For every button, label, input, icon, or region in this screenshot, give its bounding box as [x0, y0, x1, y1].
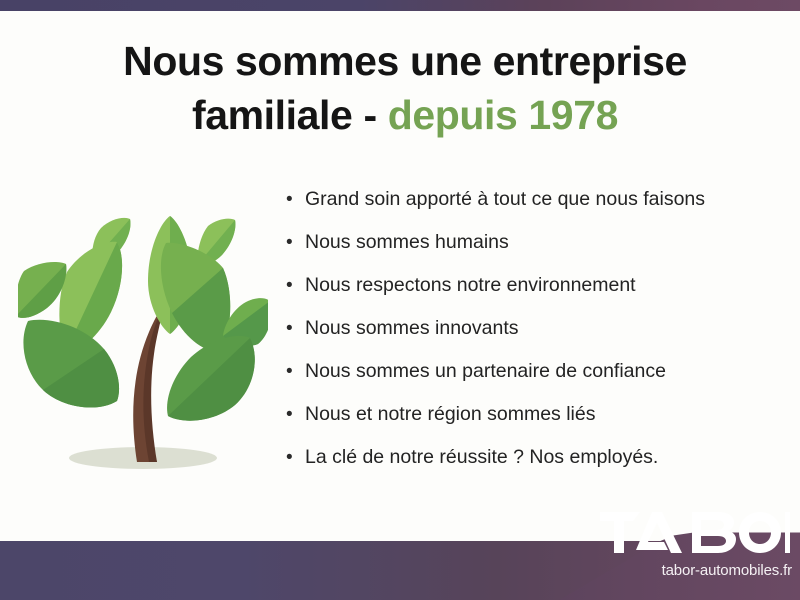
list-item-label: La clé de notre réussite ? Nos employés. — [305, 448, 658, 468]
logo-letter-a — [636, 512, 682, 553]
list-item-label: Nous respectons notre environnement — [305, 276, 636, 296]
tabor-logo — [600, 512, 790, 556]
tree-leaf-lower-right — [167, 336, 255, 421]
bullet-dot-icon: • — [286, 319, 305, 338]
logo-letter-b-reversed — [692, 512, 736, 553]
list-item-label: Nous sommes humains — [305, 233, 509, 253]
list-item: • Nous sommes humains — [286, 233, 766, 276]
tree-leaf-upper-right — [161, 243, 230, 352]
headline-accent-since-1978: depuis 1978 — [388, 92, 618, 138]
tree-leaf-lower-left — [23, 320, 119, 408]
headline-line-2: familiale - depuis 1978 — [60, 88, 750, 142]
tree-trunk — [133, 304, 164, 462]
bullet-dot-icon: • — [286, 405, 305, 424]
bullet-dot-icon: • — [286, 276, 305, 295]
list-item: • Nous sommes un partenaire de confiance — [286, 362, 766, 405]
list-item-label: Nous sommes innovants — [305, 319, 519, 339]
logo-letter-t — [600, 512, 640, 553]
presentation-slide: Nous sommes une entreprise familiale - d… — [0, 0, 800, 600]
bullet-dot-icon: • — [286, 233, 305, 252]
list-item: • Nous respectons notre environnement — [286, 276, 766, 319]
bullet-dot-icon: • — [286, 190, 305, 209]
tree-illustration — [18, 186, 268, 488]
list-item: • La clé de notre réussite ? Nos employé… — [286, 448, 766, 491]
page-title: Nous sommes une entreprise familiale - d… — [60, 34, 750, 142]
logo-letter-o — [739, 512, 781, 553]
top-accent-band — [0, 0, 800, 11]
list-item-label: Nous sommes un partenaire de confiance — [305, 362, 666, 382]
logo-letter-r — [785, 512, 790, 553]
list-item: • Grand soin apporté à tout ce que nous … — [286, 190, 766, 233]
benefits-list: • Grand soin apporté à tout ce que nous … — [286, 190, 766, 491]
bullet-dot-icon: • — [286, 362, 305, 381]
list-item-label: Grand soin apporté à tout ce que nous fa… — [305, 190, 705, 210]
headline-line-1: Nous sommes une entreprise — [60, 34, 750, 88]
bullet-dot-icon: • — [286, 448, 305, 467]
list-item-label: Nous et notre région sommes liés — [305, 405, 595, 425]
headline-line-2-plain: familiale - — [192, 92, 388, 138]
tree-leaf-far-left — [18, 262, 66, 318]
list-item: • Nous et notre région sommes liés — [286, 405, 766, 448]
list-item: • Nous sommes innovants — [286, 319, 766, 362]
logo-tagline: tabor-automobiles.fr — [600, 562, 792, 579]
